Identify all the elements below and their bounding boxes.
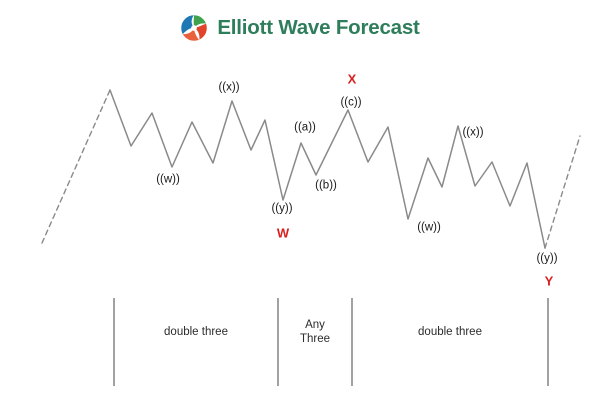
- bracket-caption-1: double three: [164, 325, 228, 339]
- wave-label-y-2: ((y)): [271, 203, 292, 215]
- bracket-caption-3: double three: [418, 325, 482, 339]
- wave-label-x-0: ((x)): [218, 82, 239, 94]
- wave-label-w-8: ((w)): [417, 222, 441, 234]
- wave-chart-canvas: [0, 0, 600, 409]
- bracket-caption-2: Any Three: [300, 318, 330, 346]
- elliott-wave-diagram-page: Elliott Wave Forecast ((x))((w))((y))W((…: [0, 0, 600, 409]
- wave-label-x-9: ((x)): [462, 127, 483, 139]
- wave-label-c-6: ((c)): [340, 97, 361, 109]
- bracket-divider-group: [114, 298, 548, 386]
- wave-label-a-4: ((a)): [294, 122, 316, 134]
- wave-label-b-5: ((b)): [315, 180, 337, 192]
- wave-label-y-11: Y: [545, 275, 554, 288]
- wave-label-y-10: ((y)): [536, 253, 557, 265]
- lead-out-dashed-line: [545, 136, 580, 248]
- wave-path-polyline: [110, 90, 545, 248]
- wave-label-x-7: X: [348, 73, 357, 86]
- wave-label-w-3: W: [277, 227, 289, 240]
- wave-label-w-1: ((w)): [156, 174, 180, 186]
- lead-in-dashed-line: [42, 90, 110, 243]
